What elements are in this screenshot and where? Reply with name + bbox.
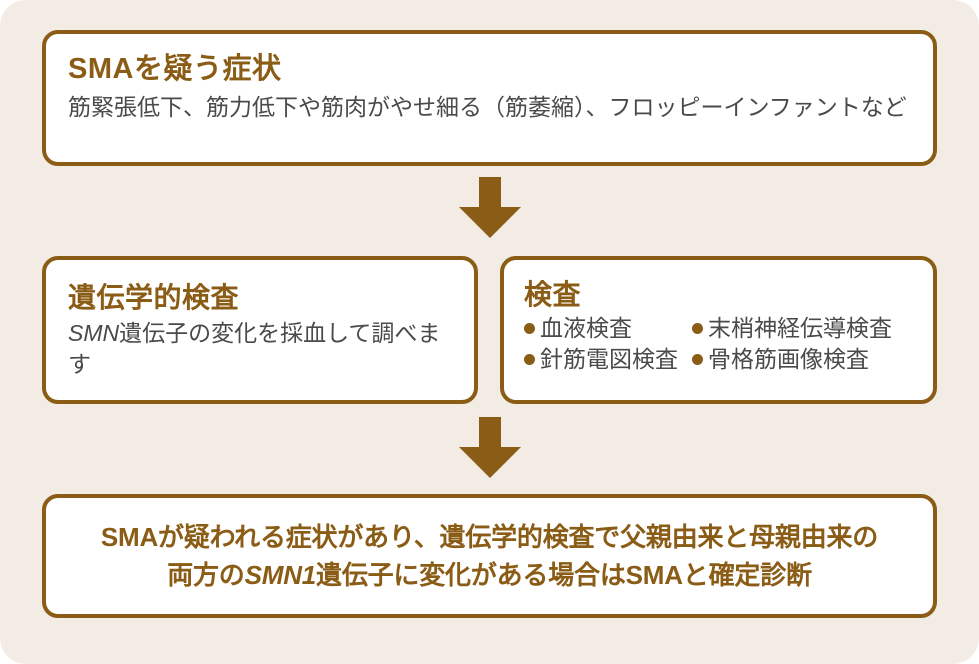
conclusion-box: SMAが疑われる症状があり、遺伝学的検査で父親由来と母親由来の両方のSMN1遺伝… — [42, 494, 937, 618]
exams-box: 検査 血液検査 末梢神経伝導検査 針筋電図検査 骨格筋画像検査 — [500, 256, 937, 404]
bullet-dot-icon — [692, 323, 703, 334]
genetic-test-box-body: SMN遺伝子の変化を採血して調べます — [68, 318, 452, 380]
exam-list-item: 末梢神経伝導検査 — [692, 313, 892, 344]
gene-name-smn1: SMN1 — [245, 560, 316, 590]
conclusion-line2-suffix: 遺伝子に変化がある場合はSMAと確定診断 — [316, 560, 812, 590]
arrow-down-icon — [455, 417, 525, 479]
conclusion-line2-prefix: 両方の — [167, 560, 244, 590]
genetic-test-box: 遺伝学的検査 SMN遺伝子の変化を採血して調べます — [42, 256, 478, 404]
exams-box-title: 検査 — [524, 278, 915, 312]
flowchart-page: SMAを疑う症状 筋緊張低下、筋力低下や筋肉がやせ細る（筋萎縮）、フロッピーイン… — [0, 0, 979, 664]
exam-item-label: 血液検査 — [540, 313, 632, 344]
bullet-dot-icon — [524, 354, 535, 365]
bullet-dot-icon — [524, 323, 535, 334]
exam-item-label: 針筋電図検査 — [540, 344, 678, 375]
gene-name-smn: SMN — [68, 320, 119, 346]
exam-list-item: 血液検査 — [524, 313, 678, 344]
exam-list-item: 針筋電図検査 — [524, 344, 678, 375]
conclusion-line1: SMAが疑われる症状があり、遺伝学的検査で父親由来と母親由来の — [101, 522, 878, 552]
conclusion-text: SMAが疑われる症状があり、遺伝学的検査で父親由来と母親由来の両方のSMN1遺伝… — [101, 518, 878, 594]
exam-item-label: 骨格筋画像検査 — [708, 344, 869, 375]
exam-item-label: 末梢神経伝導検査 — [708, 313, 892, 344]
symptoms-box: SMAを疑う症状 筋緊張低下、筋力低下や筋肉がやせ細る（筋萎縮）、フロッピーイン… — [42, 30, 937, 166]
exams-list: 血液検査 末梢神経伝導検査 針筋電図検査 骨格筋画像検査 — [524, 313, 915, 375]
bullet-dot-icon — [692, 354, 703, 365]
symptoms-box-title: SMAを疑う症状 — [68, 50, 911, 88]
symptoms-box-body: 筋緊張低下、筋力低下や筋肉がやせ細る（筋萎縮）、フロッピーインファントなど — [68, 91, 911, 123]
genetic-test-box-body-rest: 遺伝子の変化を採血して調べます — [68, 320, 440, 377]
arrow-down-icon — [455, 177, 525, 239]
genetic-test-box-title: 遺伝学的検査 — [68, 280, 452, 316]
exam-list-item: 骨格筋画像検査 — [692, 344, 892, 375]
